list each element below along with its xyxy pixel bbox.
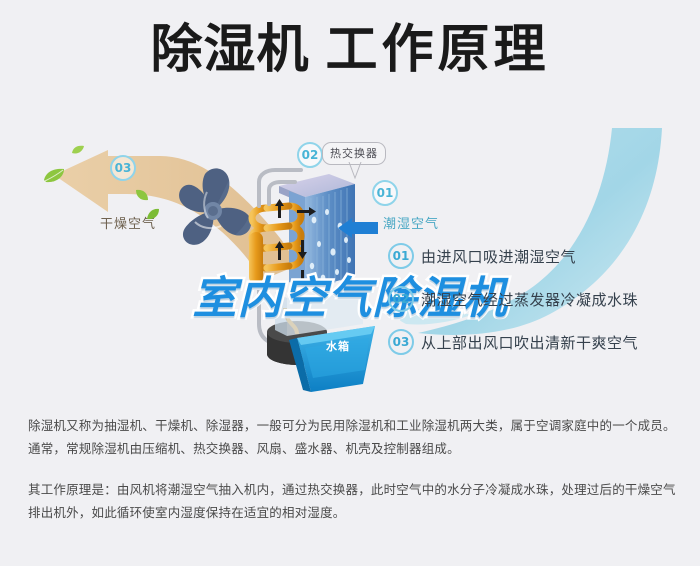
list-item: 02 潮湿空气经过蒸发器冷凝成水珠	[388, 286, 688, 312]
leaf-icon-3	[134, 188, 150, 202]
step-text-03: 从上部出风口吹出清新干爽空气	[421, 332, 638, 353]
step-text-02: 潮湿空气经过蒸发器冷凝成水珠	[421, 289, 638, 310]
title-part-1: 除湿机	[150, 20, 309, 80]
step-text-01: 由进风口吸进潮湿空气	[421, 246, 576, 267]
humid-air-label: 潮湿空气	[383, 213, 439, 232]
title-part-2: 工作原理	[326, 20, 550, 80]
page-title: 除湿机工作原理	[0, 22, 700, 79]
paragraph-1: 除湿机又称为抽湿机、干燥机、除湿器，一般可分为民用除湿机和工业除湿机两大类，属于…	[28, 415, 676, 461]
diagram-badge-03: 03	[110, 155, 136, 181]
step-badge-01: 01	[388, 243, 414, 269]
list-item: 01 由进风口吸进潮湿空气	[388, 243, 688, 269]
leaf-icon-2	[71, 145, 85, 155]
intake-arrow-icon	[338, 218, 378, 238]
leaf-icon-4	[146, 208, 161, 221]
step-badge-03: 03	[388, 329, 414, 355]
paragraph-2: 其工作原理是：由风机将潮湿空气抽入机内，通过热交换器，此时空气中的水分子冷凝成水…	[28, 479, 676, 525]
leaf-icon-1	[42, 168, 68, 184]
body-copy: 除湿机又称为抽湿机、干燥机、除湿器，一般可分为民用除湿机和工业除湿机两大类，属于…	[28, 415, 676, 525]
step-badge-02: 02	[388, 286, 414, 312]
infographic-page: 除湿机工作原理	[0, 0, 700, 566]
water-tank-label: 水箱	[326, 338, 350, 354]
dehumidifier-unit-illustration	[245, 148, 385, 398]
list-item: 03 从上部出风口吹出清新干爽空气	[388, 329, 688, 355]
steps-list: 01 由进风口吸进潮湿空气 02 潮湿空气经过蒸发器冷凝成水珠 03 从上部出风…	[388, 243, 688, 372]
